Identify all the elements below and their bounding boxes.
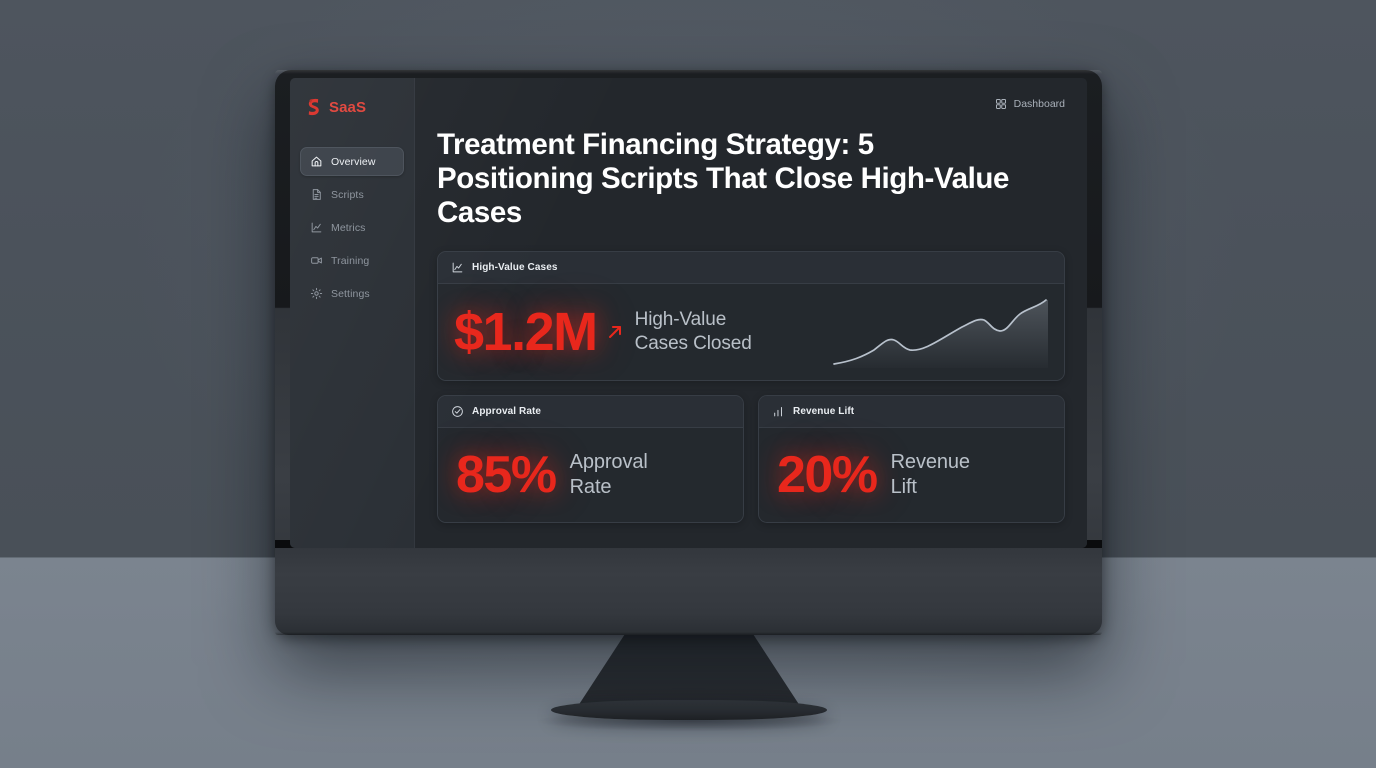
screen: SaaS Overview Scripts (290, 78, 1087, 548)
s-logo-icon (305, 98, 322, 117)
sidebar-item-label: Scripts (331, 189, 364, 201)
metric-label: High-Value Cases Closed (635, 308, 752, 354)
card-body: $1.2M High-Value Cases Closed (438, 284, 1064, 380)
metric-label-line1: Approval (570, 451, 648, 473)
monitor-stand-base (551, 700, 827, 720)
metric-value: 85% (456, 449, 556, 501)
sidebar-item-label: Metrics (331, 222, 366, 234)
sidebar-item-overview[interactable]: Overview (300, 147, 404, 176)
gear-icon (310, 287, 323, 300)
card-approval-rate[interactable]: Approval Rate 85% Approval Rate (437, 395, 744, 523)
topbar: Dashboard (437, 94, 1065, 114)
metric-label-line2: Lift (891, 476, 917, 498)
monitor-bezel-bottom (275, 548, 1102, 635)
metric-label-line1: High-Value (635, 309, 727, 330)
bar-chart-icon (772, 405, 785, 418)
sidebar-item-settings[interactable]: Settings (300, 279, 404, 308)
monitor: SaaS Overview Scripts (275, 70, 1102, 635)
card-header: Approval Rate (438, 396, 743, 428)
card-body: 20% Revenue Lift (759, 428, 1064, 522)
card-header: Revenue Lift (759, 396, 1064, 428)
card-revenue-lift[interactable]: Revenue Lift 20% Revenue Lift (758, 395, 1065, 523)
brand[interactable]: SaaS (300, 96, 404, 117)
card-header: High-Value Cases (438, 252, 1064, 284)
home-icon (310, 155, 323, 168)
content-area: Dashboard Treatment Financing Strategy: … (415, 78, 1087, 548)
metric-value: $1.2M (454, 305, 597, 359)
sidebar: SaaS Overview Scripts (290, 78, 415, 548)
metric-label: Approval Rate (570, 450, 648, 499)
sidebar-item-label: Settings (331, 288, 370, 300)
brand-name: SaaS (329, 99, 366, 116)
sidebar-nav: Overview Scripts Metrics (300, 147, 404, 308)
metric-label-line2: Rate (570, 476, 612, 498)
document-icon (310, 188, 323, 201)
sidebar-item-label: Overview (331, 156, 376, 168)
sidebar-item-metrics[interactable]: Metrics (300, 213, 404, 242)
card-header-title: Approval Rate (472, 406, 541, 417)
card-body: 85% Approval Rate (438, 428, 743, 522)
sidebar-item-training[interactable]: Training (300, 246, 404, 275)
check-circle-icon (451, 405, 464, 418)
card-high-value-cases[interactable]: High-Value Cases $1.2M High-Value Cases … (437, 251, 1065, 381)
metric-label: Revenue Lift (891, 450, 970, 499)
video-camera-icon (310, 254, 323, 267)
monitor-gloss (275, 70, 1102, 74)
dashboard-link[interactable]: Dashboard (995, 98, 1065, 110)
sparkline-chart (832, 294, 1052, 370)
metric-label-line2: Cases Closed (635, 333, 752, 354)
page-title: Treatment Financing Strategy: 5 Position… (437, 128, 1037, 231)
metric-label-line1: Revenue (891, 451, 970, 473)
line-chart-icon (451, 261, 464, 274)
dashboard-label: Dashboard (1014, 98, 1065, 110)
card-header-title: High-Value Cases (472, 262, 558, 273)
metric-cards: High-Value Cases $1.2M High-Value Cases … (437, 251, 1065, 523)
grid-icon (995, 98, 1007, 110)
arrow-up-right-icon (605, 322, 625, 342)
sidebar-item-scripts[interactable]: Scripts (300, 180, 404, 209)
line-chart-icon (310, 221, 323, 234)
card-header-title: Revenue Lift (793, 406, 854, 417)
metric-cards-row: Approval Rate 85% Approval Rate (437, 395, 1065, 523)
sidebar-item-label: Training (331, 255, 369, 267)
metric-value: 20% (777, 449, 877, 501)
